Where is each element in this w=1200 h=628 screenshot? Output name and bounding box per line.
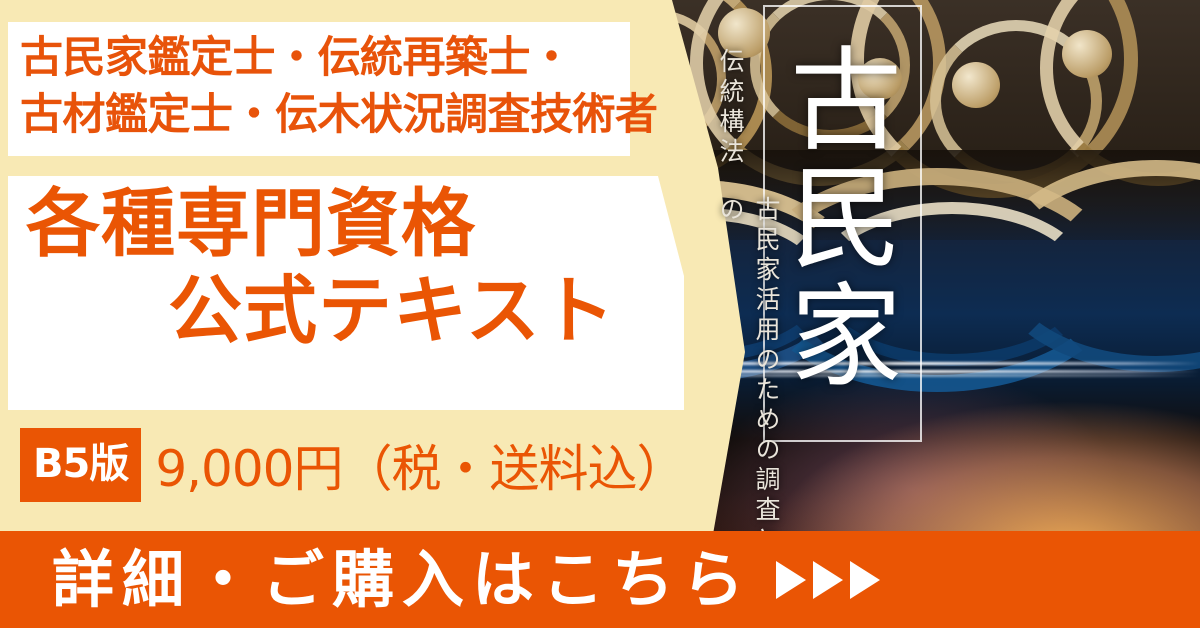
page-title: 各種専門資格 公式テキスト [8,182,684,354]
format-badge: B5版 [20,428,141,502]
price-row: B5版 9,000円（税・送料込） [20,428,685,502]
cta-bar[interactable]: 詳細・ご購入はこちら [0,531,1200,628]
title-line-2: 公式テキスト [8,269,684,354]
cover-subtitle-top: 伝統構法 [712,48,748,168]
qualification-subheading: 古民家鑑定士・伝統再築士・ 古材鑑定士・伝木状況調査技術者 [20,30,720,144]
promo-banner: 古民家鑑定士・伝統再築士・ 古材鑑定士・伝木状況調査技術者 各種専門資格 公式テ… [0,0,1200,628]
subheading-line-2: 古材鑑定士・伝木状況調査技術者 [20,87,720,144]
cover-title: 古民家 [775,10,905,425]
cta-label: 詳細・ご購入はこちら [52,549,752,611]
triangle-right-icon [813,561,843,599]
triangle-right-icon [776,561,806,599]
triangle-right-icon [850,561,880,599]
price-amount: 9,000円（税・送料込） [155,429,685,501]
title-line-1: 各種専門資格 [8,182,684,267]
cta-arrows [776,561,880,599]
subheading-line-1: 古民家鑑定士・伝統再築士・ [20,30,720,87]
